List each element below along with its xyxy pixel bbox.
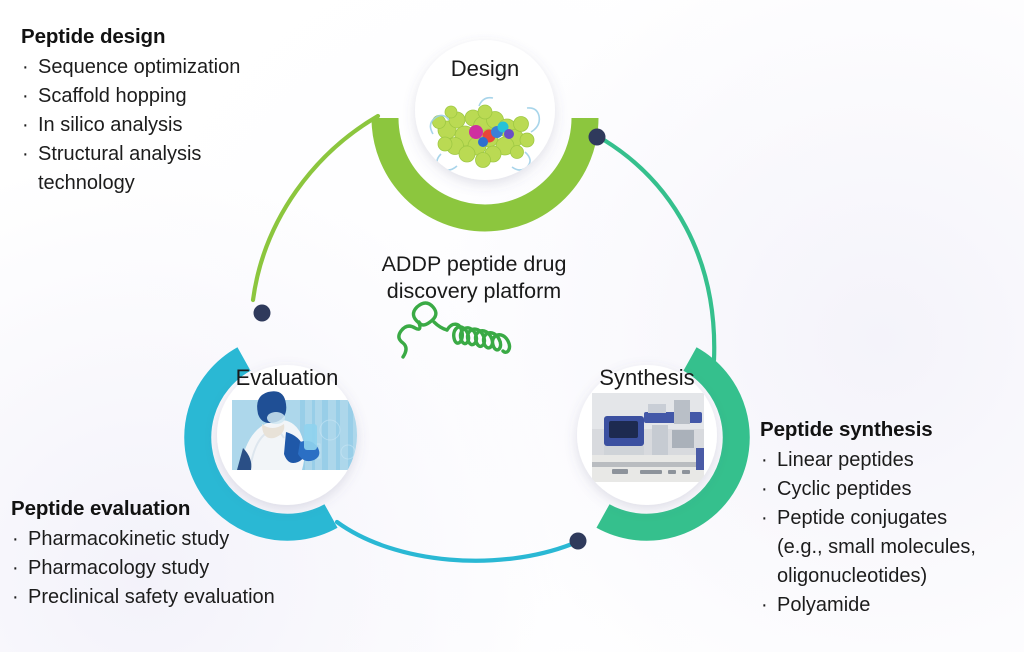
connector-evaluation-to-synthesis bbox=[337, 522, 572, 561]
list-item-text: Sequence optimization bbox=[38, 56, 240, 78]
junction-dot-synthesis bbox=[570, 533, 587, 550]
bullet-glyph: · bbox=[761, 446, 768, 475]
bullet-glyph: · bbox=[761, 504, 768, 533]
list-item: ·Preclinical safety evaluation bbox=[11, 583, 275, 612]
list-item-text: technology bbox=[38, 172, 135, 194]
list-item-text: (e.g., small molecules, bbox=[777, 536, 976, 558]
bullet-glyph: · bbox=[761, 475, 768, 504]
bullet-glyph: · bbox=[22, 111, 29, 140]
list-item-text: Linear peptides bbox=[777, 449, 914, 471]
list-item-text: Preclinical safety evaluation bbox=[28, 586, 275, 608]
bullet-glyph: · bbox=[22, 53, 29, 82]
bullet-glyph: · bbox=[22, 82, 29, 111]
peptide-synthesis-title: Peptide synthesis bbox=[760, 418, 976, 442]
synthesis-node-label[interactable]: Synthesis bbox=[557, 365, 737, 391]
evaluation-node-label[interactable]: Evaluation bbox=[197, 365, 377, 391]
peptide-synthesis-block: Peptide synthesis ·Linear peptides ·Cycl… bbox=[760, 418, 976, 620]
peptide-helix-icon bbox=[399, 303, 510, 357]
bullet-glyph: · bbox=[22, 140, 29, 169]
list-item-text: Cyclic peptides bbox=[777, 478, 912, 500]
list-item-continuation: oligonucleotides) bbox=[760, 562, 976, 591]
bullet-glyph: · bbox=[12, 583, 19, 612]
design-node-label[interactable]: Design bbox=[395, 56, 575, 82]
list-item: ·Structural analysis bbox=[21, 140, 240, 169]
peptide-design-list: ·Sequence optimization ·Scaffold hopping… bbox=[21, 53, 240, 198]
list-item: ·Scaffold hopping bbox=[21, 82, 240, 111]
platform-title-line1: ADDP peptide drug bbox=[382, 252, 567, 276]
list-item-text: Scaffold hopping bbox=[38, 85, 187, 107]
list-item-text: In silico analysis bbox=[38, 114, 183, 136]
list-item-text: Peptide conjugates bbox=[777, 507, 947, 529]
list-item: ·Peptide conjugates bbox=[760, 504, 976, 533]
list-item-text: oligonucleotides) bbox=[777, 565, 927, 587]
list-item: ·Linear peptides bbox=[760, 446, 976, 475]
list-item-text: Structural analysis bbox=[38, 143, 201, 165]
bullet-glyph: · bbox=[761, 591, 768, 620]
bullet-glyph: · bbox=[12, 525, 19, 554]
list-item: ·Cyclic peptides bbox=[760, 475, 976, 504]
peptide-synthesis-list: ·Linear peptides ·Cyclic peptides ·Pepti… bbox=[760, 446, 976, 620]
platform-title-line2: discovery platform bbox=[387, 279, 561, 303]
peptide-evaluation-title: Peptide evaluation bbox=[11, 497, 275, 521]
list-item: ·Polyamide bbox=[760, 591, 976, 620]
lab-scientist-image bbox=[232, 391, 362, 470]
peptide-evaluation-list: ·Pharmacokinetic study ·Pharmacology stu… bbox=[11, 525, 275, 612]
peptide-evaluation-block: Peptide evaluation ·Pharmacokinetic stud… bbox=[11, 497, 275, 612]
peptide-design-block: Peptide design ·Sequence optimization ·S… bbox=[21, 25, 240, 198]
junction-dot-evaluation bbox=[254, 305, 271, 322]
list-item-continuation: (e.g., small molecules, bbox=[760, 533, 976, 562]
list-item: ·Sequence optimization bbox=[21, 53, 240, 82]
junction-dot-design bbox=[589, 129, 606, 146]
list-item: ·Pharmacology study bbox=[11, 554, 275, 583]
bullet-glyph: · bbox=[12, 554, 19, 583]
list-item: ·In silico analysis bbox=[21, 111, 240, 140]
list-item-text: Pharmacology study bbox=[28, 557, 209, 579]
list-item-continuation: technology bbox=[21, 169, 240, 198]
peptide-design-title: Peptide design bbox=[21, 25, 240, 49]
list-item: ·Pharmacokinetic study bbox=[11, 525, 275, 554]
list-item-text: Polyamide bbox=[777, 594, 870, 616]
list-item-text: Pharmacokinetic study bbox=[28, 528, 229, 550]
platform-title: ADDP peptide drug discovery platform bbox=[334, 251, 614, 305]
infographic-canvas: Design Synthesis Evaluation ADDP peptide… bbox=[0, 0, 1024, 652]
peptide-synthesizer-image bbox=[592, 393, 704, 482]
connector-design-to-synthesis bbox=[604, 140, 714, 360]
